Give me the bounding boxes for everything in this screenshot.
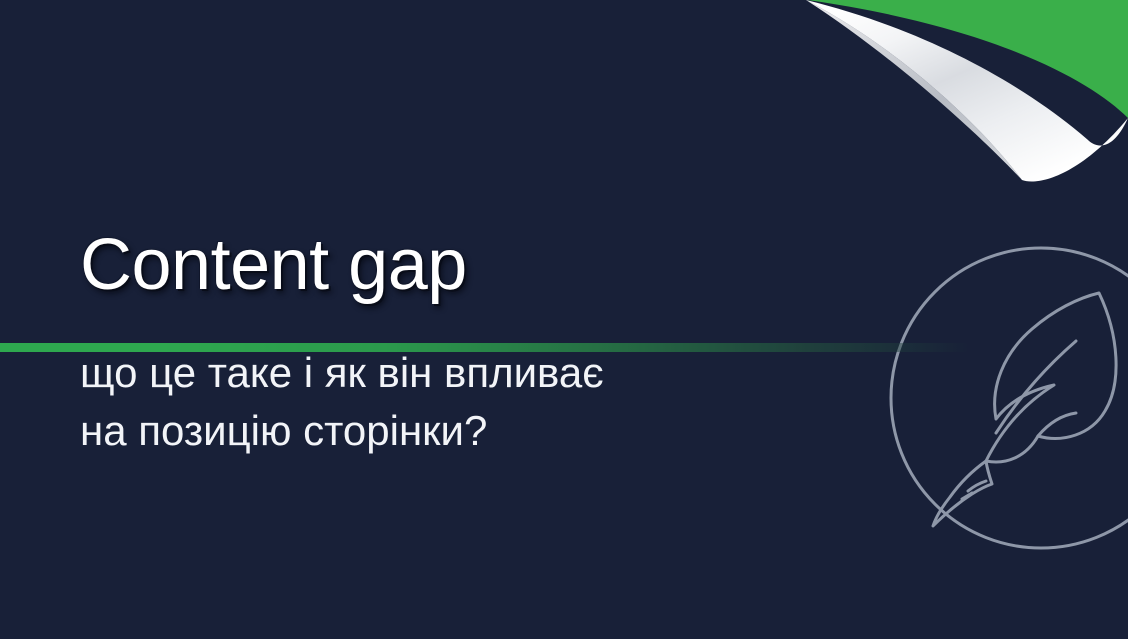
slide-subtitle: що це таке і як він впливає на позицію с…	[80, 308, 870, 460]
slide-title: Content gap	[80, 222, 870, 308]
feather-quill-icon	[933, 293, 1116, 526]
presentation-slide: Content gap що це таке і як він впливає …	[0, 0, 1128, 639]
slide-subtitle-line-1: що це таке і як він впливає	[80, 344, 870, 402]
corner-accent-triangle	[808, 0, 1128, 118]
curled-paper-shadow-edge	[806, 0, 1022, 180]
brandmark-circle-outline	[891, 248, 1128, 548]
slide-subtitle-line-2: на позицію сторінки?	[80, 402, 870, 460]
brandmark	[886, 243, 1128, 553]
curled-paper	[806, 0, 1128, 182]
slide-content: Content gap що це таке і як він впливає …	[80, 222, 870, 460]
page-curl-corner	[788, 0, 1128, 200]
